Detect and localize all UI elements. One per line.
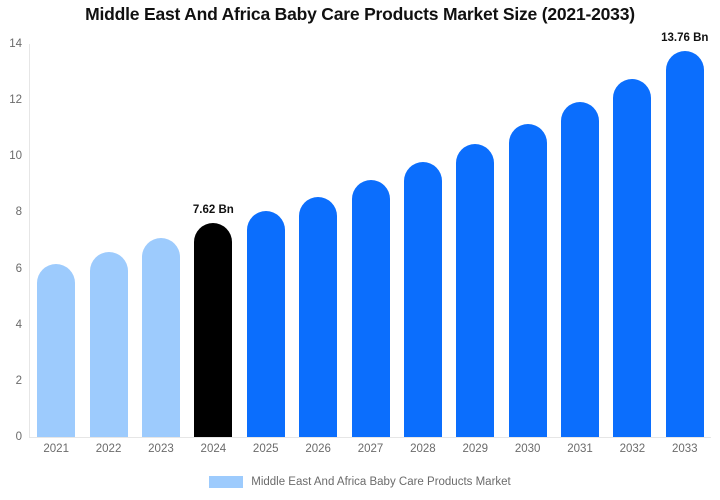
bar[interactable] xyxy=(247,211,285,437)
y-axis-tick-label: 4 xyxy=(0,319,22,331)
x-axis-tick-label: 2030 xyxy=(515,443,541,455)
bar[interactable] xyxy=(37,264,75,437)
y-axis-tick-label: 10 xyxy=(0,150,22,162)
x-axis-tick-label: 2029 xyxy=(462,443,488,455)
chart-legend: Middle East And Africa Baby Care Product… xyxy=(0,476,720,488)
y-axis-tick-label: 12 xyxy=(0,94,22,106)
x-axis-tick-label: 2032 xyxy=(620,443,646,455)
bar-chart: Middle East And Africa Baby Care Product… xyxy=(0,0,720,500)
x-axis-tick-label: 2033 xyxy=(672,443,698,455)
x-axis-tick-label: 2026 xyxy=(305,443,331,455)
bar[interactable] xyxy=(90,252,128,437)
y-axis-tick-label: 6 xyxy=(0,263,22,275)
y-axis-line xyxy=(29,44,30,438)
bar[interactable] xyxy=(299,197,337,437)
x-axis-tick-label: 2025 xyxy=(253,443,279,455)
x-axis-tick-label: 2021 xyxy=(43,443,69,455)
bar-value-label: 7.62 Bn xyxy=(193,204,234,216)
bar[interactable] xyxy=(613,79,651,437)
y-axis-tick-label: 2 xyxy=(0,375,22,387)
bar[interactable] xyxy=(352,180,390,437)
x-axis-tick-label: 2028 xyxy=(410,443,436,455)
legend-swatch xyxy=(209,476,243,488)
bar[interactable] xyxy=(456,144,494,437)
x-axis-tick-label: 2027 xyxy=(358,443,384,455)
x-axis-line xyxy=(29,437,711,438)
legend-label: Middle East And Africa Baby Care Product… xyxy=(251,476,511,488)
y-axis-tick-label: 0 xyxy=(0,431,22,443)
bar[interactable] xyxy=(142,238,180,437)
y-axis-tick-label: 8 xyxy=(0,206,22,218)
plot-area: 0246810121420212022202320247.62 Bn202520… xyxy=(0,0,720,500)
bar[interactable] xyxy=(561,102,599,437)
y-axis-tick-label: 14 xyxy=(0,38,22,50)
x-axis-tick-label: 2022 xyxy=(96,443,122,455)
bar-value-label: 13.76 Bn xyxy=(661,32,708,44)
x-axis-tick-label: 2024 xyxy=(201,443,227,455)
bar[interactable] xyxy=(666,51,704,437)
x-axis-tick-label: 2031 xyxy=(567,443,593,455)
bar[interactable] xyxy=(194,223,232,437)
bar[interactable] xyxy=(509,124,547,437)
bar[interactable] xyxy=(404,162,442,437)
x-axis-tick-label: 2023 xyxy=(148,443,174,455)
